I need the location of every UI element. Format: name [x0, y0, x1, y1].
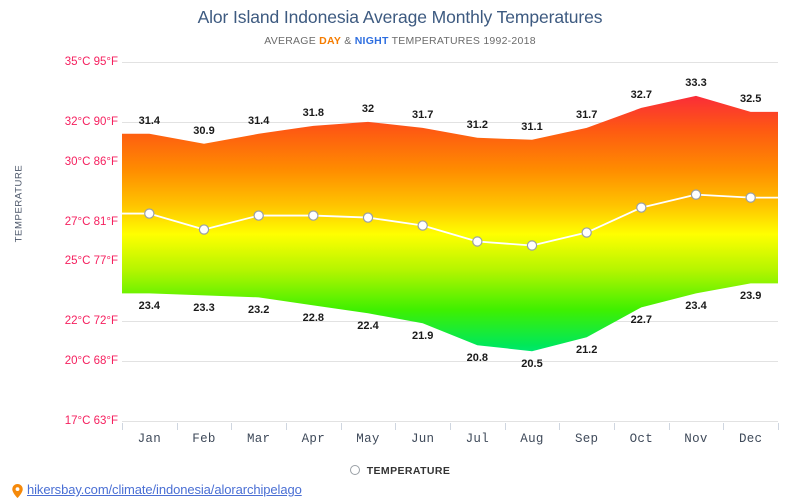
day-value-label: 32.7: [631, 89, 652, 101]
night-value-label: 23.4: [139, 300, 160, 312]
data-point-marker[interactable]: [527, 241, 536, 250]
day-value-label: 31.7: [576, 109, 597, 121]
night-value-label: 20.8: [467, 352, 488, 364]
y-axis-tick-label: 17°C 63°F: [26, 415, 118, 427]
legend-marker-icon: [350, 465, 360, 475]
temperature-band: [122, 55, 778, 430]
y-axis: 35°C 95°F32°C 90°F30°C 86°F27°C 81°F25°C…: [0, 0, 118, 500]
subtitle-amp: &: [341, 35, 355, 47]
x-axis-label: Jul: [466, 432, 489, 446]
day-value-label: 31.4: [139, 115, 160, 127]
night-value-label: 22.7: [631, 314, 652, 326]
day-value-label: 31.7: [412, 109, 433, 121]
day-value-label: 30.9: [193, 125, 214, 137]
night-value-label: 21.9: [412, 330, 433, 342]
source-link[interactable]: hikersbay.com/climate/indonesia/alorarch…: [12, 482, 302, 497]
night-value-label: 20.5: [521, 358, 542, 370]
x-axis-label: Sep: [575, 432, 598, 446]
y-axis-tick-label: 20°C 68°F: [26, 355, 118, 367]
data-point-marker[interactable]: [746, 193, 755, 202]
day-value-label: 31.8: [303, 107, 324, 119]
subtitle-prefix: AVERAGE: [264, 35, 319, 47]
data-point-marker[interactable]: [363, 213, 372, 222]
plot-area: [122, 55, 778, 430]
data-point-marker[interactable]: [473, 237, 482, 246]
night-value-label: 23.4: [685, 300, 706, 312]
data-point-marker[interactable]: [691, 190, 700, 199]
day-value-label: 32: [362, 103, 374, 115]
data-point-marker[interactable]: [145, 209, 154, 218]
night-value-label: 22.4: [357, 320, 378, 332]
x-axis-tick: [778, 423, 779, 430]
x-axis-label: Jun: [411, 432, 434, 446]
legend: TEMPERATURE: [0, 465, 800, 477]
x-axis-label: Oct: [630, 432, 653, 446]
y-axis-tick-label: 22°C 72°F: [26, 315, 118, 327]
x-axis-label: Nov: [684, 432, 707, 446]
day-value-label: 32.5: [740, 93, 761, 105]
chart-subtitle: AVERAGE DAY & NIGHT TEMPERATURES 1992-20…: [0, 35, 800, 47]
night-value-label: 23.3: [193, 302, 214, 314]
y-axis-tick-label: 25°C 77°F: [26, 255, 118, 267]
day-value-label: 31.2: [467, 119, 488, 131]
y-axis-tick-label: 27°C 81°F: [26, 216, 118, 228]
x-axis-label: Feb: [192, 432, 215, 446]
x-axis-label: Apr: [302, 432, 325, 446]
x-axis-label: Jan: [138, 432, 161, 446]
climate-chart: Alor Island Indonesia Average Monthly Te…: [0, 0, 800, 500]
data-point-marker[interactable]: [637, 203, 646, 212]
x-axis-label: Dec: [739, 432, 762, 446]
x-axis-label: May: [356, 432, 379, 446]
night-value-label: 23.2: [248, 304, 269, 316]
source-url: hikersbay.com/climate/indonesia/alorarch…: [27, 482, 302, 497]
x-axis-label: Mar: [247, 432, 270, 446]
subtitle-suffix: TEMPERATURES 1992-2018: [389, 35, 536, 47]
day-value-label: 31.1: [521, 121, 542, 133]
night-value-label: 21.2: [576, 344, 597, 356]
x-axis-label: Aug: [520, 432, 543, 446]
legend-label: TEMPERATURE: [367, 465, 451, 477]
map-pin-icon: [12, 484, 23, 498]
data-point-marker[interactable]: [309, 211, 318, 220]
night-value-label: 22.8: [303, 312, 324, 324]
subtitle-night: NIGHT: [355, 35, 389, 47]
y-axis-tick-label: 35°C 95°F: [26, 56, 118, 68]
day-value-label: 33.3: [685, 77, 706, 89]
day-value-label: 31.4: [248, 115, 269, 127]
data-point-marker[interactable]: [199, 225, 208, 234]
y-axis-tick-label: 30°C 86°F: [26, 156, 118, 168]
subtitle-day: DAY: [319, 35, 341, 47]
data-point-marker[interactable]: [418, 221, 427, 230]
data-point-marker[interactable]: [582, 228, 591, 237]
data-point-marker[interactable]: [254, 211, 263, 220]
night-value-label: 23.9: [740, 290, 761, 302]
y-axis-tick-label: 32°C 90°F: [26, 116, 118, 128]
page-title: Alor Island Indonesia Average Monthly Te…: [0, 7, 800, 28]
